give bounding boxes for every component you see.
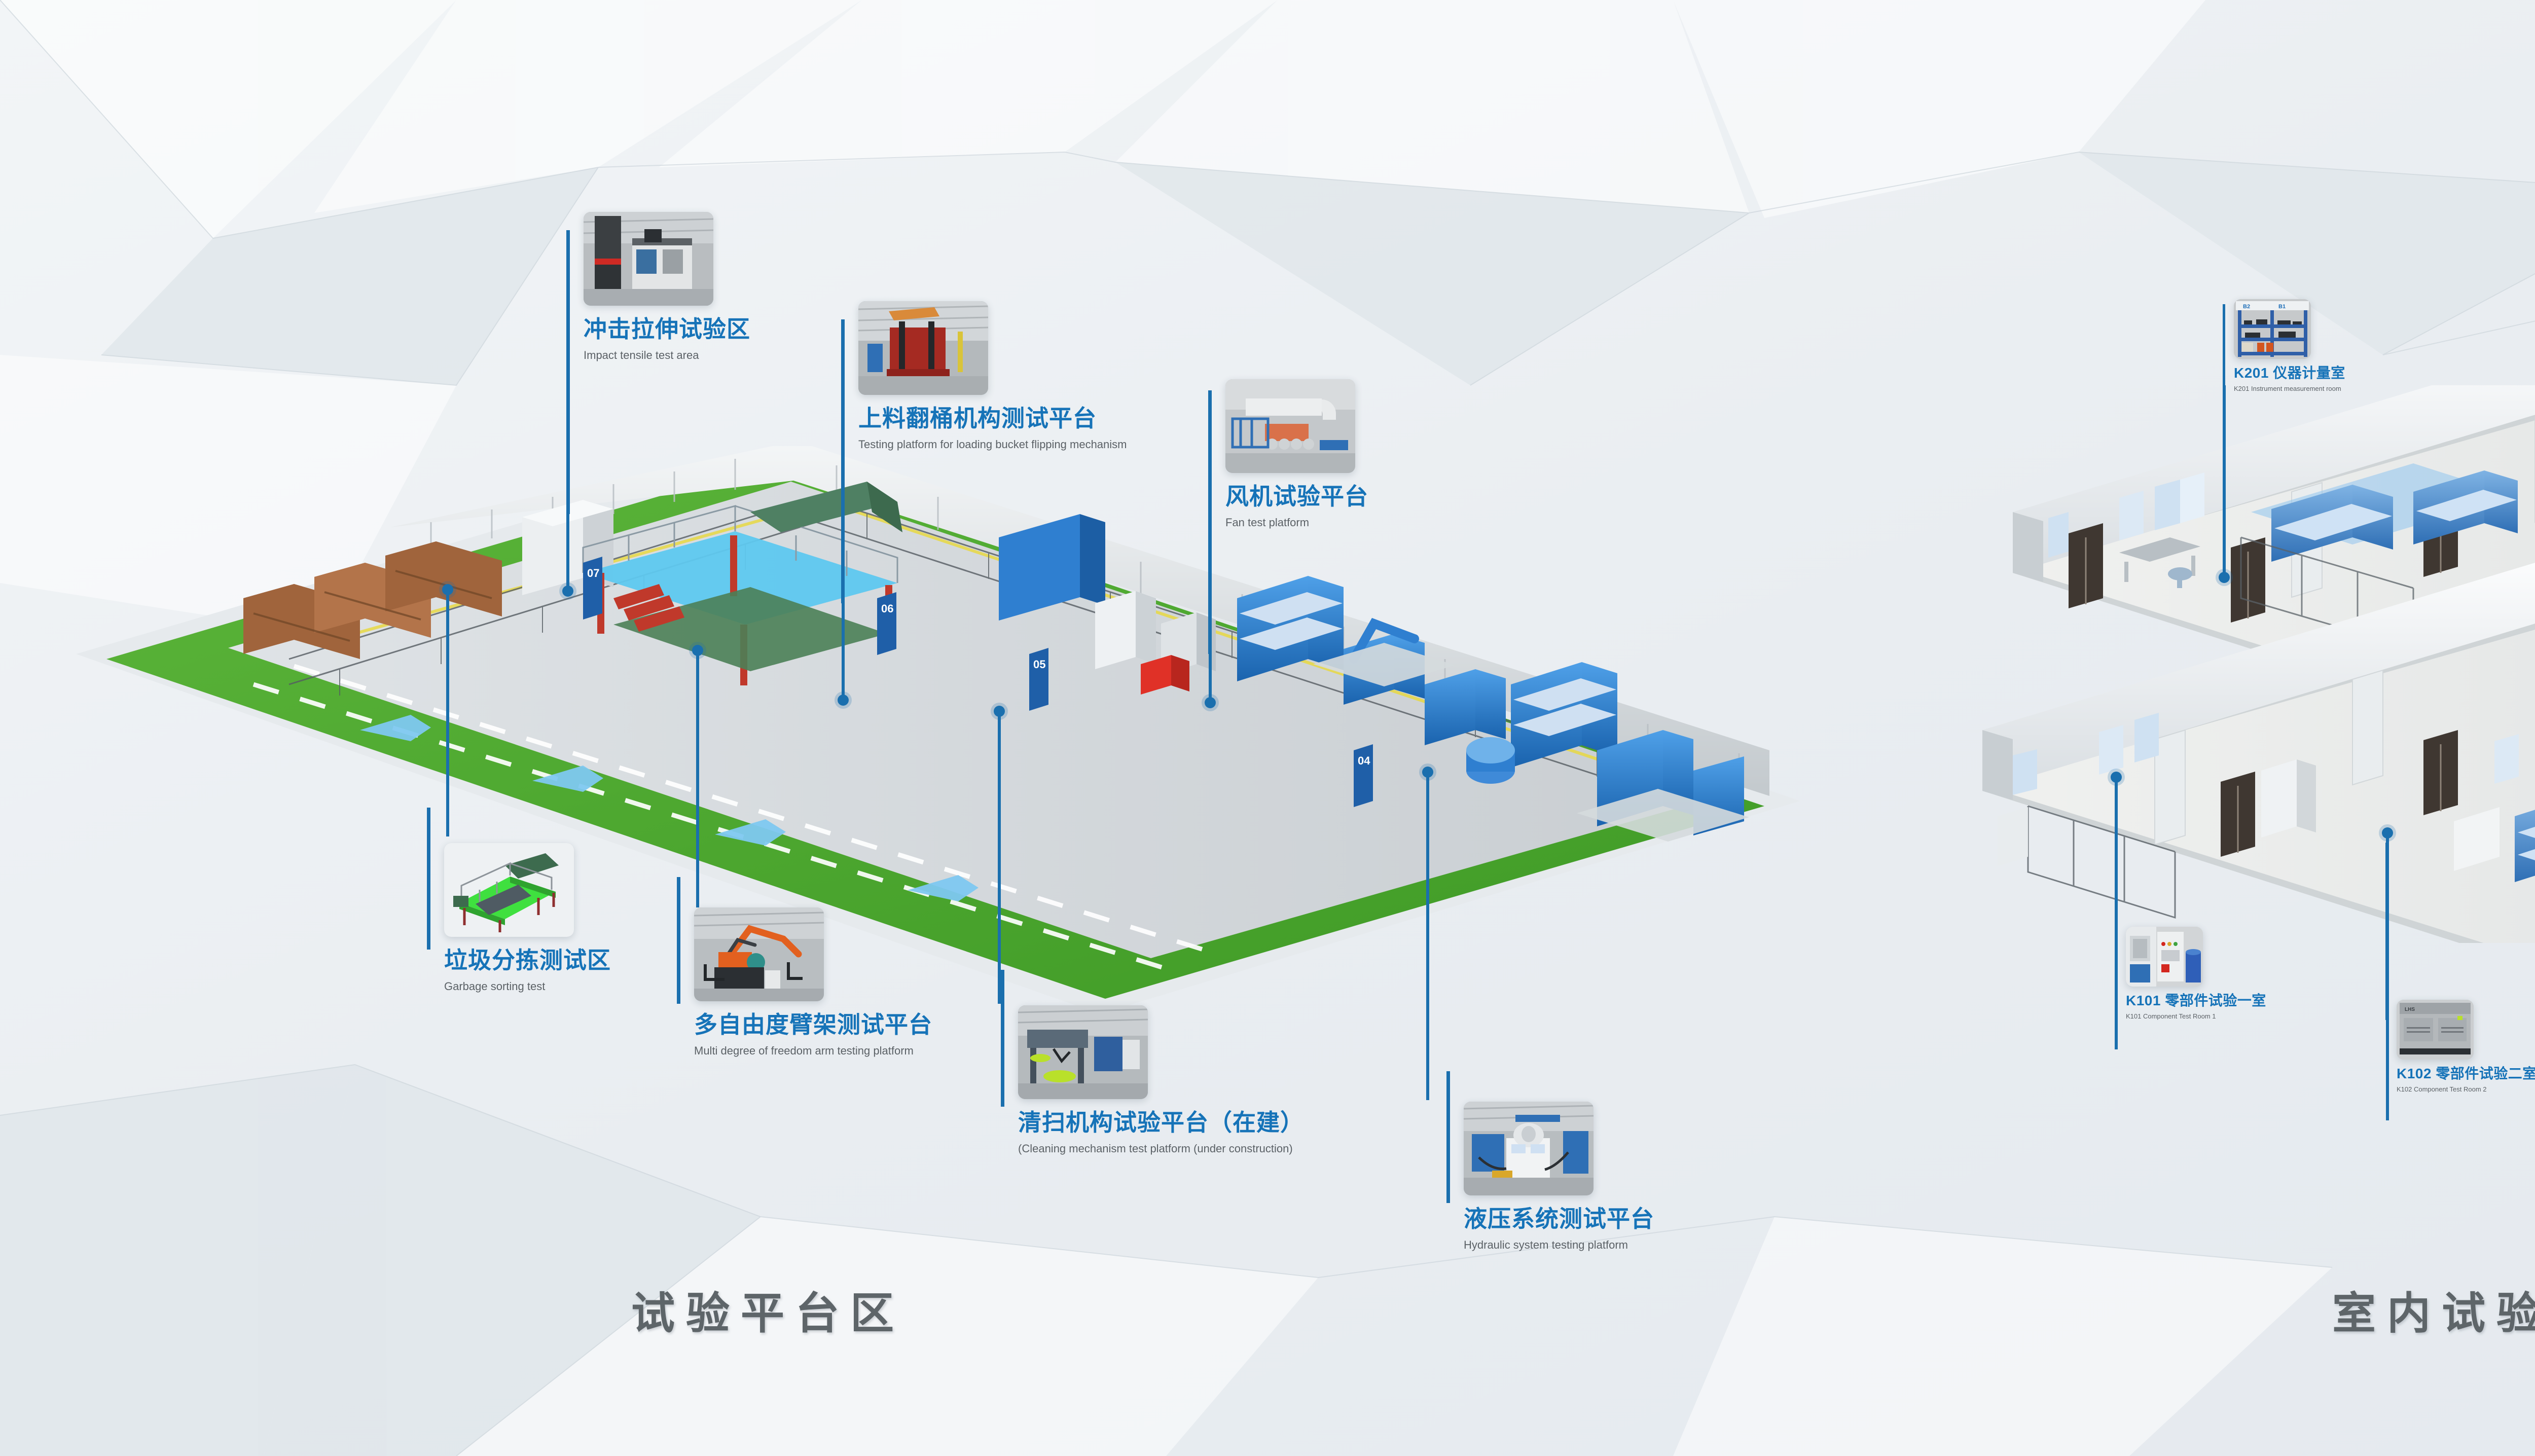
svg-text:B2: B2 xyxy=(2243,304,2250,310)
thumbnail-multi-dof-arm[interactable] xyxy=(694,907,824,1001)
callout-impact-tensile-test-area[interactable]: 冲击拉伸试验区 Impact tensile test area xyxy=(584,212,750,362)
marker-dot-cleaning-mechanism xyxy=(994,706,1005,717)
thumbnail-fan-test[interactable] xyxy=(1225,379,1355,473)
callout-fan-test-platform[interactable]: 风机试验平台 Fan test platform xyxy=(1225,379,1368,529)
svg-text:07: 07 xyxy=(587,567,599,579)
marker-dot-bucket-flipping xyxy=(838,695,849,706)
callout-title-en: K102 Component Test Room 2 xyxy=(2397,1085,2535,1094)
callout-garbage-sorting-test[interactable]: 垃圾分拣测试区 Garbage sorting test xyxy=(444,843,611,993)
thumbnail-impact-tensile[interactable] xyxy=(584,212,713,306)
svg-text:04: 04 xyxy=(1358,754,1370,767)
callout-title-cn: 清扫机构试验平台（在建） xyxy=(1018,1109,1304,1136)
callout-k201[interactable]: B2 B1 K201 仪器计量室 K201 Instrument measure… xyxy=(2234,299,2345,393)
callout-title-cn: 冲击拉伸试验区 xyxy=(584,316,750,343)
callout-title-en: Fan test platform xyxy=(1225,516,1368,529)
accent-bar xyxy=(427,808,430,950)
callout-title-cn: 垃圾分拣测试区 xyxy=(444,947,611,974)
callout-title-cn: K101 零部件试验一室 xyxy=(2126,993,2266,1009)
section-title-outdoor: 试验平台区 xyxy=(631,1278,905,1341)
leader-line-hydraulic xyxy=(1426,771,1429,1100)
thumbnail-garbage-sorting[interactable] xyxy=(444,843,574,937)
callout-title-cn: K102 零部件试验二室 xyxy=(2397,1066,2535,1082)
callout-loading-bucket-flipping[interactable]: 上料翻桶机构测试平台 Testing platform for loading … xyxy=(858,301,1127,451)
callout-title-en: Hydraulic system testing platform xyxy=(1464,1239,1654,1252)
accent-bar xyxy=(1446,1071,1450,1203)
callout-title-en: K201 Instrument measurement room xyxy=(2234,385,2345,393)
accent-bar xyxy=(1001,970,1004,1107)
callout-multi-dof-arm[interactable]: 多自由度臂架测试平台 Multi degree of freedom arm t… xyxy=(694,907,932,1058)
thumbnail-k101[interactable] xyxy=(2126,927,2203,987)
accent-bar xyxy=(677,877,680,1004)
accent-bar xyxy=(2385,843,2388,1020)
callout-title-cn: K201 仪器计量室 xyxy=(2234,365,2345,381)
marker-dot-k201 xyxy=(2219,572,2230,583)
marker-dot-hydraulic xyxy=(1422,767,1433,778)
callout-k102[interactable]: LHS K102 零部件试验二室 K102 Component Test Roo… xyxy=(2397,1000,2535,1094)
callout-k101[interactable]: K101 零部件试验一室 K101 Component Test Room 1 xyxy=(2126,927,2266,1021)
svg-text:05: 05 xyxy=(1033,658,1045,671)
leader-line-multi-dof-arm xyxy=(696,649,699,907)
accent-bar xyxy=(566,230,570,514)
svg-text:06: 06 xyxy=(881,602,893,615)
marker-dot-fan-test xyxy=(1205,697,1216,708)
callout-title-en: K101 Component Test Room 1 xyxy=(2126,1012,2266,1021)
callout-title-en: Multi degree of freedom arm testing plat… xyxy=(694,1044,932,1058)
callout-title-en: Garbage sorting test xyxy=(444,980,611,993)
indoor-lab-3d-scene xyxy=(1967,385,2535,943)
callout-title-cn: 风机试验平台 xyxy=(1225,483,1368,510)
thumbnail-k102[interactable]: LHS xyxy=(2397,1000,2474,1060)
svg-text:LHS: LHS xyxy=(2405,1007,2415,1012)
marker-dot-garbage-sorting xyxy=(442,584,453,595)
thumbnail-cleaning-mechanism[interactable] xyxy=(1018,1005,1148,1099)
callout-title-en: (Cleaning mechanism test platform (under… xyxy=(1018,1142,1304,1155)
callout-hydraulic-system[interactable]: 液压系统测试平台 Hydraulic system testing platfo… xyxy=(1464,1102,1654,1252)
callout-title-en: Testing platform for loading bucket flip… xyxy=(858,438,1127,451)
marker-dot-multi-dof-arm xyxy=(692,645,703,656)
callout-title-en: Impact tensile test area xyxy=(584,349,750,362)
section-title-indoor: 室内试验区 xyxy=(2332,1278,2535,1341)
callout-title-cn: 多自由度臂架测试平台 xyxy=(694,1011,932,1038)
svg-text:B1: B1 xyxy=(2278,304,2286,310)
thumbnail-bucket-flipping[interactable] xyxy=(858,301,988,395)
accent-bar xyxy=(2223,304,2225,441)
callout-title-cn: 上料翻桶机构测试平台 xyxy=(858,405,1127,432)
thumbnail-hydraulic-system[interactable] xyxy=(1464,1102,1594,1195)
callout-cleaning-mechanism[interactable]: 清扫机构试验平台（在建） (Cleaning mechanism test pl… xyxy=(1018,1005,1304,1155)
leader-line-cleaning-mechanism xyxy=(998,710,1001,1004)
leader-line-garbage-sorting xyxy=(446,588,449,836)
marker-dot-impact-tensile xyxy=(562,586,573,597)
accent-bar xyxy=(2115,780,2117,947)
marker-dot-k102 xyxy=(2382,827,2393,839)
accent-bar xyxy=(1208,390,1212,654)
outdoor-test-area-3d-scene: 07 06 05 04 xyxy=(76,446,1800,1014)
accent-bar xyxy=(841,319,845,603)
callout-title-cn: 液压系统测试平台 xyxy=(1464,1206,1654,1232)
thumbnail-k201[interactable]: B2 B1 xyxy=(2234,299,2311,359)
